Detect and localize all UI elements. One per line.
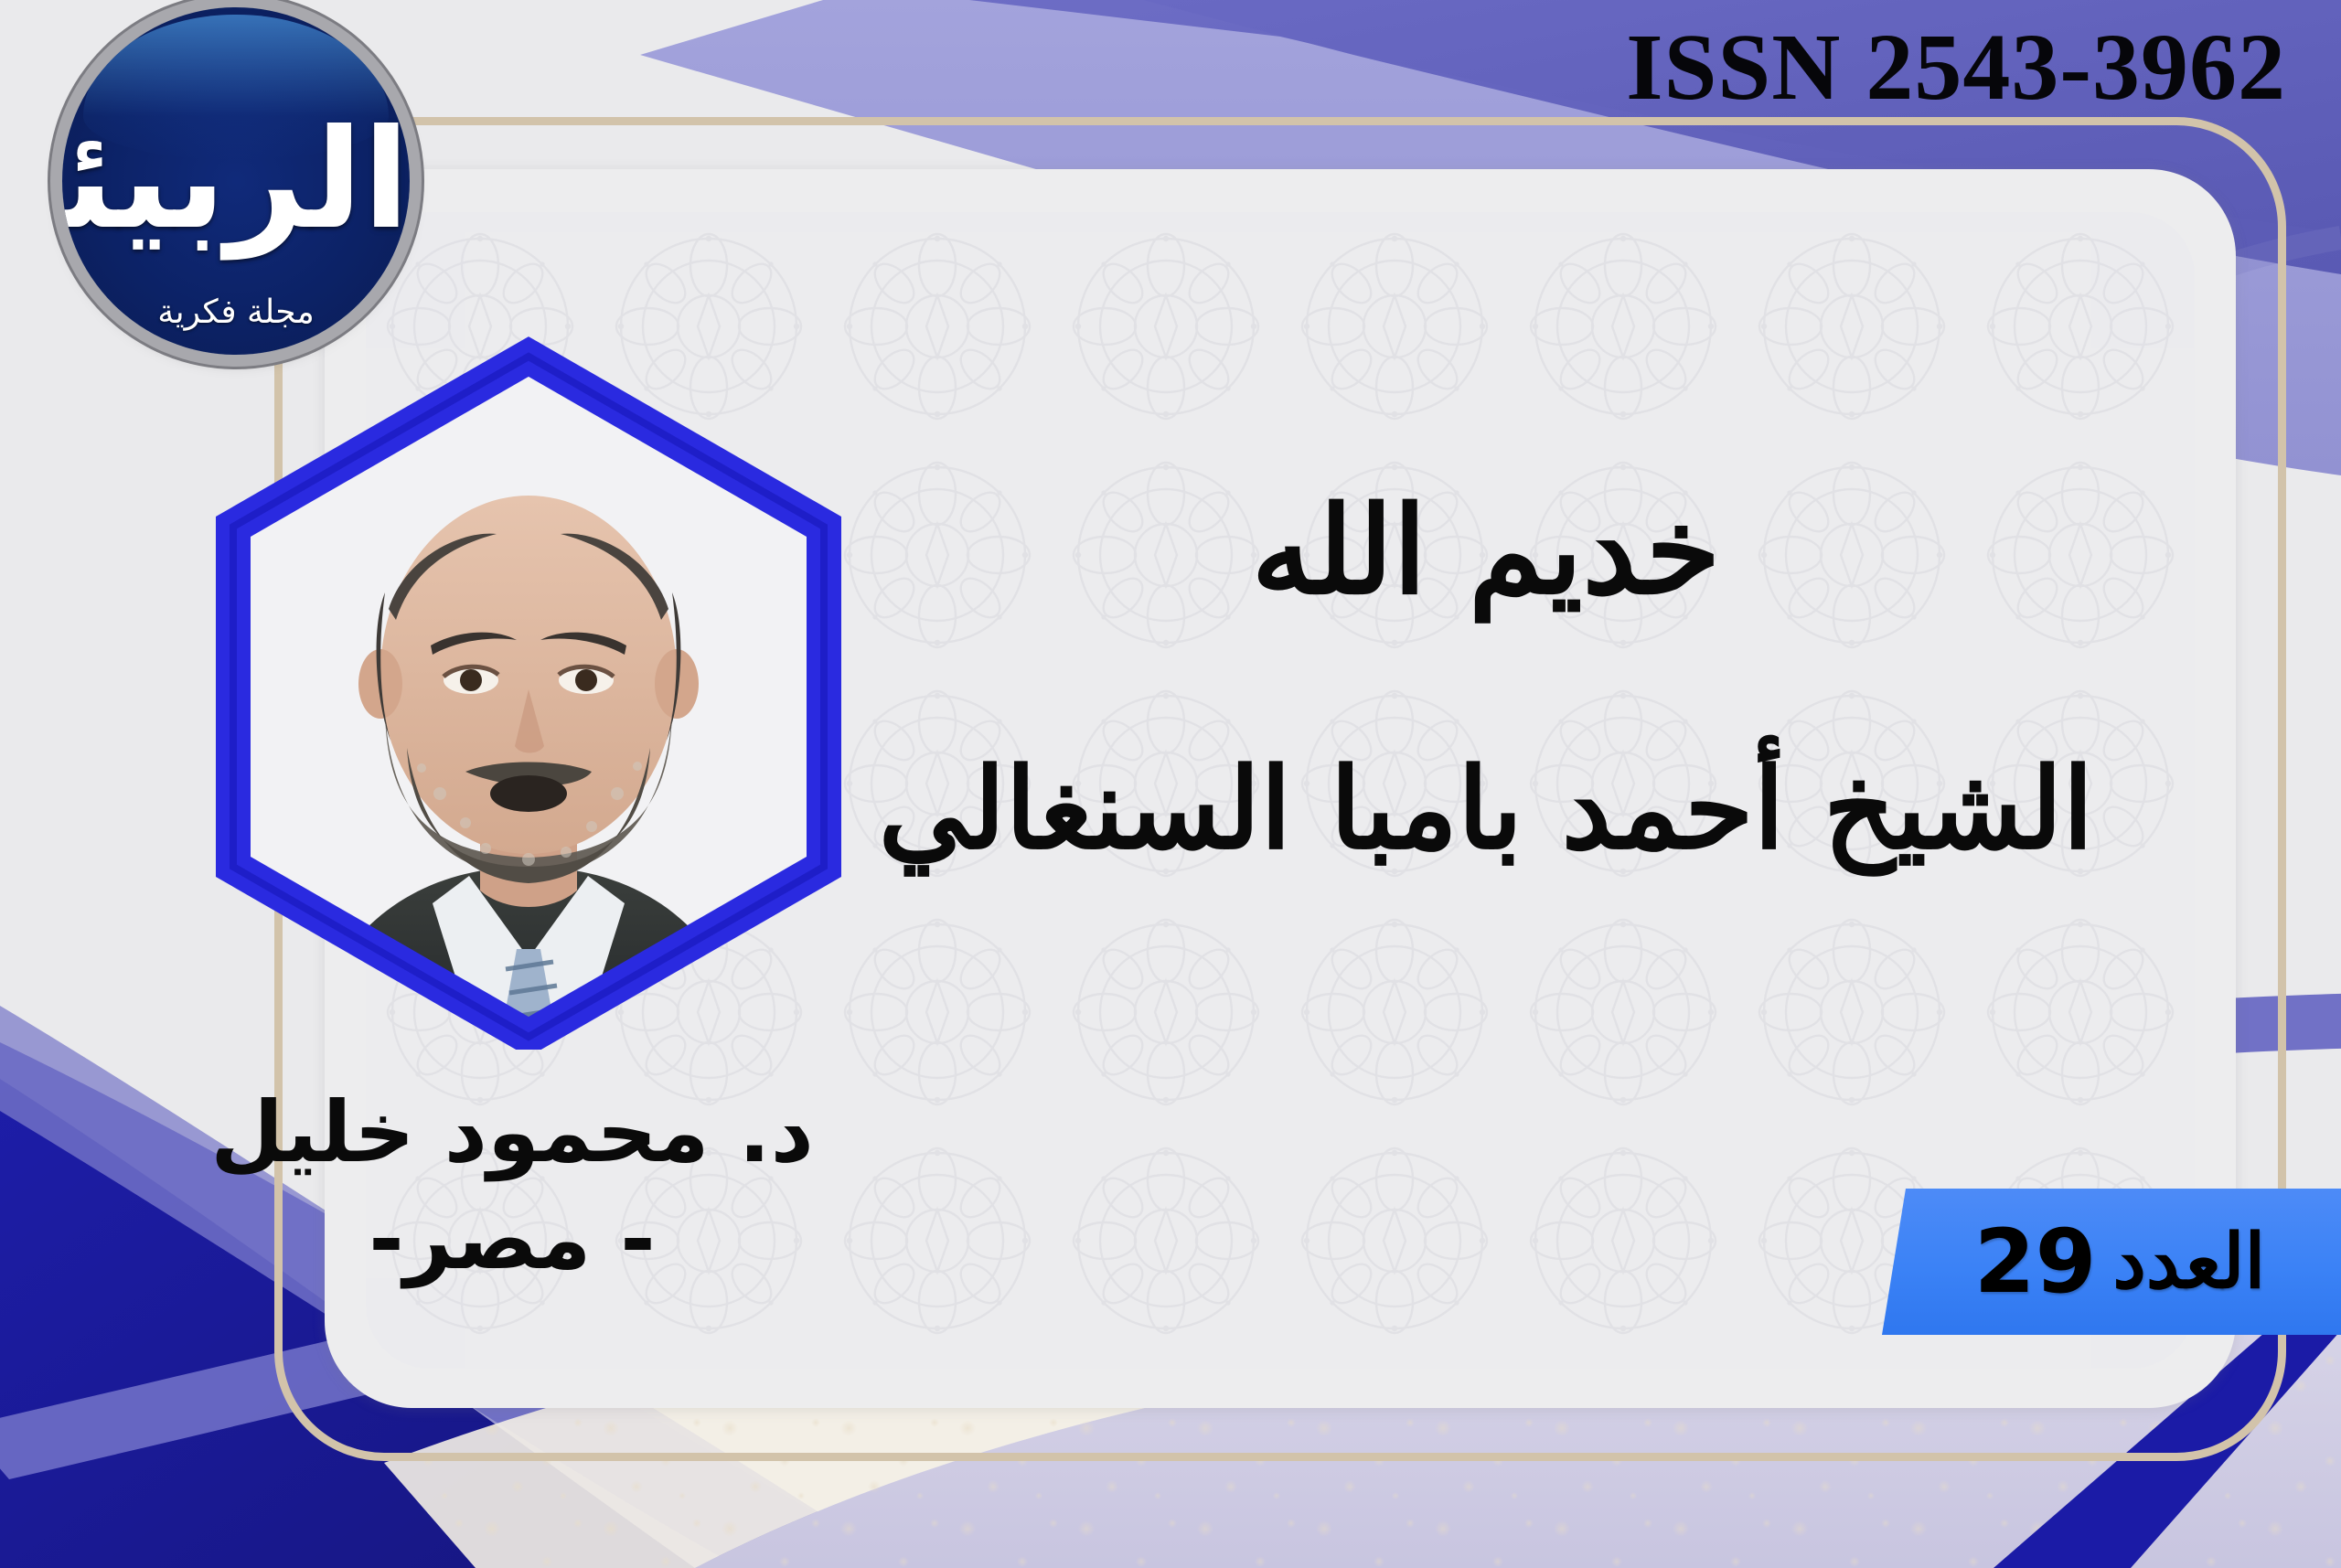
article-title-main: خديم الله — [823, 475, 2149, 626]
issue-badge-text: العدد 29 — [1882, 1189, 2341, 1335]
cover-page: الربيئة مجلة فكرية ISSN 2543-3962 — [0, 0, 2341, 1568]
hexagon-frame — [195, 318, 862, 1050]
author-country: - مصر- — [165, 1190, 860, 1290]
portrait-photo — [195, 318, 862, 1050]
author-photo-hexagon — [195, 318, 862, 1050]
article-title-block: خديم الله الشيخ أحمد بامبا السنغالي — [823, 475, 2149, 881]
article-title-sub: الشيخ أحمد بامبا السنغالي — [823, 736, 2149, 881]
issn-text: ISSN 2543-3962 — [1626, 13, 2286, 122]
issue-badge: العدد 29 — [1882, 1189, 2341, 1335]
issue-label: العدد — [2112, 1218, 2265, 1306]
logo-title: الربيئة — [62, 112, 410, 249]
journal-seal-icon: الربيئة مجلة فكرية — [62, 7, 410, 355]
logo-subtitle: مجلة فكرية — [62, 293, 410, 331]
issue-number: 29 — [1974, 1211, 2097, 1313]
author-block: د. محمود خليل - مصر- — [165, 1083, 860, 1289]
author-name: د. محمود خليل — [165, 1083, 860, 1183]
